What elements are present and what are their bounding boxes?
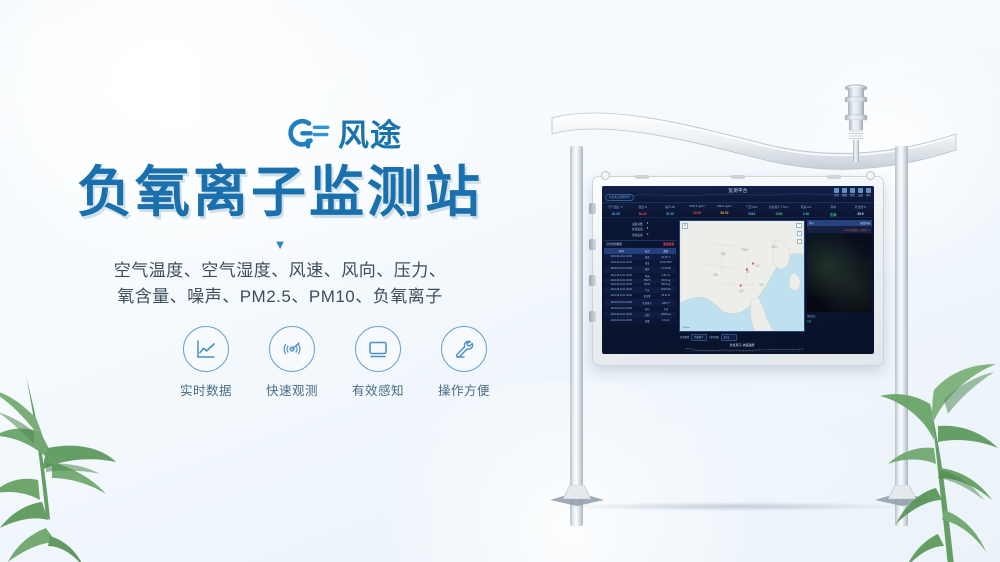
metric-value: 2.30: [792, 212, 819, 216]
home-icon: [834, 188, 839, 193]
radar-signal-icon: [280, 337, 304, 361]
metric-card: 氧含量 %20.9: [847, 203, 874, 217]
alarm-column-header: 报警内容: [860, 221, 870, 225]
metric-name: 噪声 dB: [656, 205, 683, 209]
metric-name: PM2.5 ug/m³: [684, 205, 711, 208]
subtitle: 空气温度、空气湿度、风速、风向、压力、 氧含量、噪声、PM2.5、PM10、负氧…: [0, 258, 560, 311]
feature-label: 快速观测: [256, 380, 328, 399]
table-caption-action[interactable]: 数据更新: [663, 242, 674, 246]
stat-key: 设备总数: [632, 222, 643, 226]
table-cell: 0.0 mm: [656, 318, 677, 324]
marketing-copy: 风途 负氧离子监测站 ▼ 空气温度、空气湿度、风速、风向、压力、 氧含量、噪声、…: [0, 0, 560, 562]
page-title: 负氧离子监测站: [0, 164, 560, 222]
table-row[interactable]: 2021-06-10 11:30:00雨量0.0 mm: [604, 318, 676, 324]
device-stat-row: 在线设备3: [604, 227, 676, 231]
left-panel: 设备总数3在线设备3离线设备0 实时监测数据 数据更新 时间站点数值 2021-…: [602, 218, 678, 354]
metric-value: 35.00: [684, 211, 711, 215]
feature-label: 有效感知: [342, 380, 414, 399]
metric-card: 湿度 %64.40: [629, 203, 656, 217]
device-stats: 设备总数3在线设备3离线设备0: [604, 222, 676, 237]
device-icon: [858, 188, 863, 193]
right-panel: 序号报警内容 1PM10 浓度超标 - 监测点 03 视频监控 在线: [806, 218, 874, 354]
chart-filter-bar: 监测要素负氧离子时间范围近7天: [679, 332, 805, 343]
stat-value: 3: [647, 222, 649, 226]
ultrasonic-weather-sensor: [836, 82, 876, 162]
station-map[interactable]: 新疆西藏 内蒙古河南 云南山东 台湾黑龙江 ▤ ⛶: [679, 220, 805, 332]
table-caption-bar: 实时监测数据 数据更新: [604, 240, 676, 247]
filter-select[interactable]: 负氧离子: [691, 334, 707, 341]
monitor-icon: [366, 337, 390, 361]
data-icon: [842, 188, 847, 193]
map-scale-label: 500km: [682, 326, 691, 329]
product-banner: 风途 负氧离子监测站 ▼ 空气温度、空气湿度、风速、风向、压力、 氧含量、噪声、…: [0, 0, 1000, 562]
metric-card: PM2.5 ug/m³35.00: [684, 203, 711, 217]
metric-name: 空气温度 ℃: [602, 205, 629, 209]
metric-card: 风速 m/s2.30: [792, 203, 819, 217]
toolbar-item-data[interactable]: 数据: [842, 188, 847, 198]
ground-shadow: [560, 502, 910, 511]
metric-card: 风向东南: [820, 203, 847, 217]
stat-key: 离线设备: [632, 233, 643, 237]
camera-note-2: 在线: [807, 319, 872, 323]
cabinet-hanger-left: [601, 171, 610, 180]
camera-note-1: 视频监控: [807, 314, 872, 318]
camera-feed[interactable]: [807, 234, 872, 312]
chevron-down-icon: ▼: [0, 238, 560, 251]
brand-name: 风途: [338, 120, 402, 151]
device-stat-row: 离线设备0: [604, 233, 676, 237]
metric-name: 气压 hPa: [738, 205, 765, 209]
metric-name: PM10 ug/m³: [711, 205, 738, 208]
feature-item-effective-sensing[interactable]: 有效感知: [342, 326, 414, 399]
filter-select[interactable]: 近7天: [721, 334, 737, 341]
realtime-data-table: 时间站点数值 2021-06-10 11:30:00温度22.15 ℃2021-…: [604, 248, 676, 324]
metric-value: 东南: [820, 212, 847, 217]
subtitle-line-1: 空气温度、空气湿度、风速、风向、压力、: [0, 258, 560, 284]
stat-value: 0: [647, 233, 649, 237]
metric-name: 风速 m/s: [792, 205, 819, 209]
metric-card: 气压 hPa1013: [738, 203, 765, 217]
user-icon: [866, 188, 871, 193]
cabinet-hinge: [589, 275, 596, 286]
alarm-column-header: 序号: [809, 221, 814, 225]
cabinet-tab: [827, 175, 841, 179]
stat-key: 在线设备: [632, 227, 643, 231]
metric-value: 1013: [738, 212, 765, 216]
table-body: 2021-06-10 11:30:00温度22.15 ℃2021-06-10 1…: [604, 254, 676, 324]
table-cell: 雨量: [639, 318, 656, 324]
feature-icon-ring: [355, 326, 401, 372]
metric-card: 负氧离子 个/cm³1256: [765, 203, 792, 217]
trend-chart: 负氧离子 浓度趋势 012345606-0106-0206-0306-0406-…: [679, 343, 805, 352]
cabinet-hinge: [589, 239, 596, 250]
metric-name: 湿度 %: [629, 205, 656, 209]
chart-title: 负氧离子 浓度趋势: [679, 343, 805, 347]
toolbar-label: 首页: [834, 195, 839, 197]
cabinet-hinge: [589, 311, 596, 322]
metric-name: 氧含量 %: [847, 205, 874, 209]
platform-badge[interactable]: 负氧离子监测平台: [605, 194, 634, 201]
toolbar-label: 用户: [866, 195, 871, 197]
stat-value: 3: [647, 227, 649, 231]
table-caption: 实时监测数据: [606, 242, 622, 246]
display-cabinet: 监测平台 负氧离子监测平台 首页 数据 报警 设备 用户 空气温度 ℃22.15…: [592, 176, 884, 366]
feature-list: 实时数据 快速观测: [170, 326, 500, 399]
feature-icon-ring: [183, 326, 229, 372]
metric-card: 噪声 dB47.20: [656, 203, 683, 217]
cabinet-tab: [635, 175, 649, 179]
map-layer-button[interactable]: ▤: [682, 223, 688, 229]
line-chart-icon: [194, 337, 218, 361]
feature-label: 操作方便: [428, 380, 500, 399]
toolbar-item-user[interactable]: 用户: [866, 188, 871, 198]
metric-name: 风向: [820, 205, 847, 209]
metric-value: 20.9: [847, 212, 874, 216]
toolbar-label: 设备: [858, 195, 863, 197]
alarm-icon: [850, 188, 855, 193]
map-graphic: 新疆西藏 内蒙古河南 云南山东 台湾黑龙江: [680, 221, 804, 331]
metric-name: 负氧离子 个/cm³: [765, 205, 792, 209]
metric-value: 58.00: [711, 211, 738, 215]
cabinet-tab: [731, 175, 745, 179]
subtitle-line-2: 氧含量、噪声、PM2.5、PM10、负氧离子: [0, 284, 560, 310]
toolbar-item-alarm[interactable]: 报警: [850, 188, 855, 198]
wrench-icon: [452, 337, 476, 361]
alarm-cell: 1: [809, 228, 810, 232]
feature-item-easy-operation[interactable]: 操作方便: [428, 326, 500, 399]
feature-item-fast-observation[interactable]: 快速观测: [256, 326, 328, 399]
cabinet-hinge: [589, 203, 596, 214]
toolbar-item-home[interactable]: 首页: [834, 188, 839, 198]
chart-plot-area: 012345606-0106-0206-0306-0406-0506-0606-…: [679, 348, 805, 352]
feature-icon-ring: [441, 326, 487, 372]
map-zoom-out-button[interactable]: −: [797, 239, 802, 244]
monitoring-station-kiosk: 监测平台 负氧离子监测平台 首页 数据 报警 设备 用户 空气温度 ℃22.15…: [520, 60, 980, 530]
filter-label: 监测要素: [680, 335, 689, 339]
support-pole-left: [570, 146, 583, 526]
feature-label: 实时数据: [170, 380, 242, 399]
dashboard-body: 设备总数3在线设备3离线设备0 实时监测数据 数据更新 时间站点数值 2021-…: [602, 218, 874, 354]
metric-value: 64.40: [629, 212, 656, 216]
metric-value: 47.20: [656, 212, 683, 216]
feature-icon-ring: [269, 326, 315, 372]
metric-strip: 空气温度 ℃22.15湿度 %64.40噪声 dB47.20PM2.5 ug/m…: [602, 203, 874, 218]
map-zoom-in-button[interactable]: +: [797, 231, 802, 236]
svg-text:07-06: 07-06: [799, 351, 804, 352]
alarm-list: 1PM10 浓度超标 - 监测点 03: [807, 226, 872, 232]
dashboard-screen[interactable]: 监测平台 负氧离子监测平台 首页 数据 报警 设备 用户 空气温度 ℃22.15…: [602, 186, 874, 354]
filter-label: 时间范围: [709, 335, 718, 339]
table-cell: 2021-06-10 11:30:00: [604, 318, 639, 324]
metric-card: 空气温度 ℃22.15: [602, 203, 629, 217]
toolbar-label: 数据: [842, 195, 847, 197]
map-fullscreen-button[interactable]: ⛶: [796, 223, 802, 228]
dashboard-toolbar: 首页 数据 报警 设备 用户: [834, 188, 871, 198]
device-stat-row: 设备总数3: [604, 222, 676, 226]
brand-logo: 风途: [285, 116, 402, 154]
alarm-cell: PM10 浓度超标 - 监测点 03: [843, 228, 870, 232]
toolbar-label: 报警: [850, 195, 855, 197]
camera-status: 视频监控 在线: [807, 314, 872, 324]
metric-card: PM10 ug/m³58.00: [711, 203, 738, 217]
wind-g-logo-icon: [285, 116, 331, 154]
metric-value: 22.15: [602, 212, 629, 216]
toolbar-item-device[interactable]: 设备: [858, 188, 863, 198]
feature-item-realtime-data[interactable]: 实时数据: [170, 326, 242, 399]
metric-value: 1256: [765, 212, 792, 216]
center-panel: 新疆西藏 内蒙古河南 云南山东 台湾黑龙江 ▤ ⛶: [678, 218, 806, 354]
dashboard-header: 监测平台 负氧离子监测平台 首页 数据 报警 设备 用户: [602, 186, 874, 203]
support-pole-right: [895, 146, 908, 526]
cabinet-hanger-right: [866, 171, 875, 180]
alarm-row[interactable]: 1PM10 浓度超标 - 监测点 03: [807, 226, 872, 232]
